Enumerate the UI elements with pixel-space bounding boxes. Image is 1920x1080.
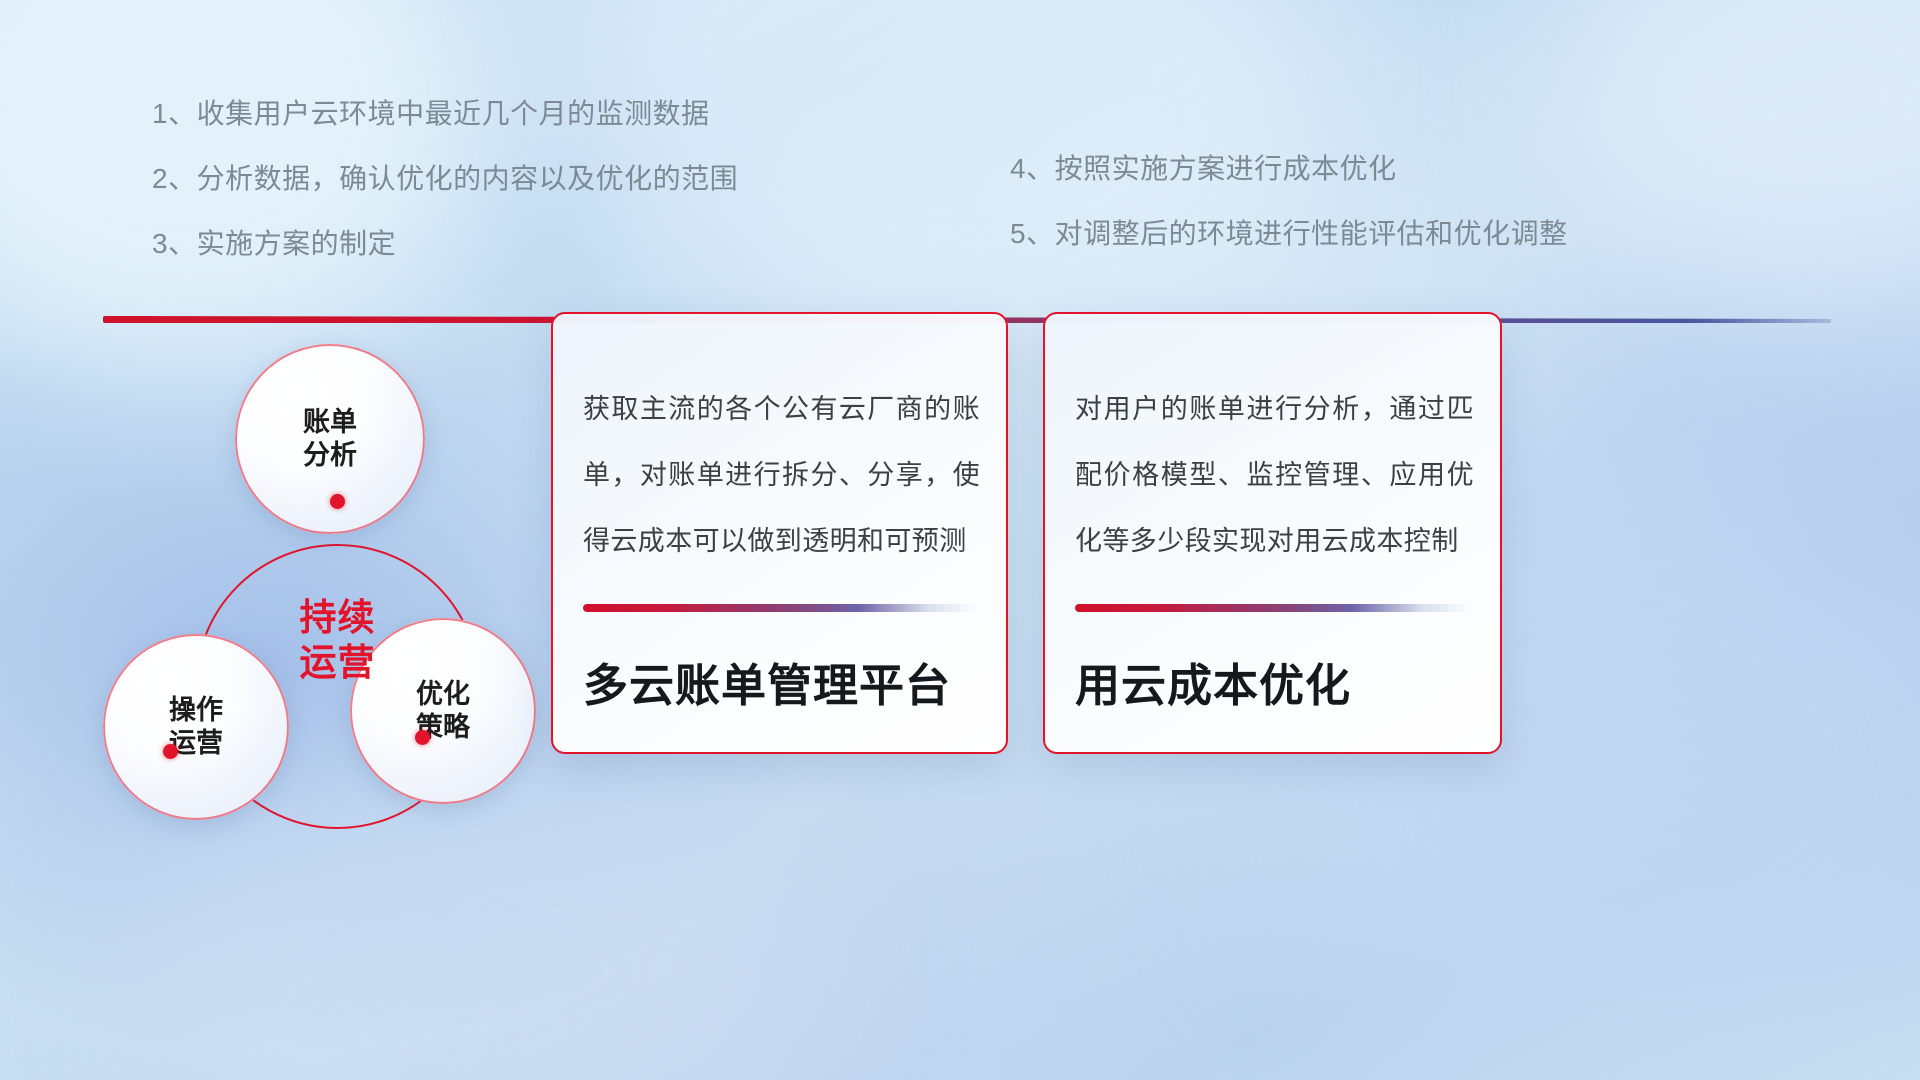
node-dot-top (330, 494, 345, 509)
card-cloud-cost-optimization-rule (1075, 604, 1470, 612)
card-multicloud-billing-body: 获取主流的各个公有云厂商的账单，对账单进行拆分、分享，使得云成本可以做到透明和可… (583, 376, 980, 574)
card-multicloud-billing-title: 多云账单管理平台 (583, 649, 986, 714)
card-cloud-cost-optimization[interactable]: 对用户的账单进行分析，通过匹配价格模型、监控管理、应用优化等多少段实现对用云成本… (1043, 312, 1502, 754)
steps-list-left: 1、收集用户云环境中最近几个月的监测数据 2、分析数据，确认优化的内容以及优化的… (152, 100, 738, 295)
bubble-operation-ops-line1: 操作 (169, 694, 223, 727)
card-cloud-cost-optimization-body: 对用户的账单进行分析，通过匹配价格模型、监控管理、应用优化等多少段实现对用云成本… (1075, 376, 1474, 574)
steps-list-right: 4、按照实施方案进行成本优化 5、对调整后的环境进行性能评估和优化调整 (1010, 155, 1568, 285)
step-item-2: 2、分析数据，确认优化的内容以及优化的范围 (152, 165, 738, 193)
diagram-center-label: 持续 运营 (210, 595, 465, 685)
card-multicloud-billing-rule (583, 604, 976, 612)
bubble-bill-analysis-line1: 账单 (303, 406, 357, 439)
continuous-operation-diagram: 账单 分析 操作 运营 优化 策略 持续 运营 (95, 352, 545, 932)
bubble-bill-analysis[interactable]: 账单 分析 (235, 344, 425, 534)
node-dot-bottom-right (415, 730, 430, 745)
node-dot-bottom-left (163, 744, 178, 759)
step-item-3: 3、实施方案的制定 (152, 230, 738, 258)
step-item-4: 4、按照实施方案进行成本优化 (1010, 155, 1568, 183)
diagram-center-label-line1: 持续 (210, 595, 465, 640)
background-glow-5 (1560, 0, 1920, 300)
slide-canvas: 1、收集用户云环境中最近几个月的监测数据 2、分析数据，确认优化的内容以及优化的… (0, 0, 1920, 1080)
step-item-5: 5、对调整后的环境进行性能评估和优化调整 (1010, 220, 1568, 248)
bubble-bill-analysis-line2: 分析 (303, 439, 357, 472)
diagram-center-label-line2: 运营 (210, 640, 465, 685)
card-cloud-cost-optimization-title: 用云成本优化 (1075, 649, 1480, 714)
card-multicloud-billing[interactable]: 获取主流的各个公有云厂商的账单，对账单进行拆分、分享，使得云成本可以做到透明和可… (551, 312, 1008, 754)
step-item-1: 1、收集用户云环境中最近几个月的监测数据 (152, 100, 738, 128)
